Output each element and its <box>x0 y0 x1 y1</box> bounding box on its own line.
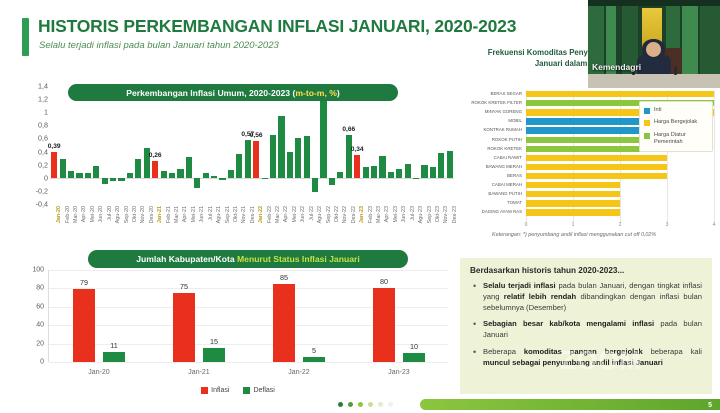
freq-bar-rect <box>526 164 667 170</box>
group-label: Jan-20 <box>88 369 109 376</box>
bar-rect <box>278 116 284 178</box>
freq-bar-label: KONTRAK RUMAH <box>456 126 522 134</box>
freq-chart-footnote: Keterangan: *) penyumbang andil inflasi … <box>492 232 707 240</box>
x-tick-label: Jan-23 <box>359 206 365 223</box>
x-tick-label: Jun-21 <box>199 206 205 222</box>
bar-rect: 75 <box>173 293 195 362</box>
x-tick-label: Mei-23 <box>393 206 399 222</box>
legend-swatch <box>201 387 208 394</box>
bar-rect <box>413 178 419 179</box>
microphone2-icon <box>674 66 677 75</box>
bar <box>371 86 377 204</box>
bottom-title-highlight: Menurut Status Inflasi Januari <box>237 254 360 264</box>
bar: 0,57 <box>245 86 251 204</box>
x-tick-label: Mei-21 <box>191 206 197 222</box>
freq-chart-legend: IntiHarga BergejolakHarga Diatur Pemerin… <box>639 101 713 152</box>
bar-rect <box>320 101 326 178</box>
x-tick-label: Jun-20 <box>98 206 104 222</box>
footer-green-band <box>420 399 720 410</box>
bar <box>211 86 217 204</box>
bar <box>161 86 167 204</box>
page-subtitle: Selalu terjadi inflasi pada bulan Januar… <box>39 40 279 51</box>
bar <box>413 86 419 204</box>
legend-swatch <box>644 133 650 139</box>
bar-rect <box>118 178 124 181</box>
bottom-chart-y-axis: 100806040200 <box>22 270 46 362</box>
x-tick-label: 3 <box>666 222 669 228</box>
progress-dot[interactable] <box>388 402 393 407</box>
bar-value-label: 15 <box>210 337 218 346</box>
note-bullet: Selalu terjadi inflasi pada bulan Januar… <box>470 281 702 313</box>
x-tick-label: Apr-22 <box>283 206 289 222</box>
x-tick-label: Jan-20 <box>56 206 62 223</box>
bar-rect: 5 <box>303 357 325 362</box>
bar <box>186 86 192 204</box>
progress-dot[interactable] <box>348 402 353 407</box>
legend-item: Harga Diatur Pemerintah <box>644 132 708 147</box>
bar-value-label: 5 <box>312 346 316 355</box>
x-tick-label: Jul-23 <box>410 206 416 221</box>
legend-swatch <box>644 108 650 114</box>
bar <box>363 86 369 204</box>
y-tick-label: 0,4 <box>22 147 48 156</box>
bar: 0,56 <box>253 86 259 204</box>
bar-rect <box>51 152 57 178</box>
main-chart-x-axis: Jan-20Feb-20Mar-20Apr-20Mei-20Jun-20Jul-… <box>50 206 454 238</box>
bar-value-label: 10 <box>410 342 418 351</box>
freq-bar-rect <box>526 200 620 206</box>
bar-rect <box>245 140 251 177</box>
x-tick-label: Okt-23 <box>435 206 441 222</box>
y-tick-label: 80 <box>36 285 44 292</box>
group-label: Jan-22 <box>288 369 309 376</box>
x-tick-label: Nov-23 <box>443 206 449 223</box>
bar: 0,26 <box>152 86 158 204</box>
x-tick-label: Jul-22 <box>309 206 315 221</box>
bar-rect <box>211 176 217 178</box>
bar: 0,39 <box>51 86 57 204</box>
x-tick-label: Des-20 <box>149 206 155 223</box>
bar <box>110 86 116 204</box>
bar <box>320 86 326 204</box>
y-tick-label: 20 <box>36 340 44 347</box>
freq-bar-row: BAWANG PUTIH <box>456 190 714 198</box>
x-tick-label: Jul-21 <box>208 206 214 221</box>
x-tick-label: Apr-21 <box>182 206 188 222</box>
bar <box>93 86 99 204</box>
freq-bar-label: MINYAK GORENG <box>456 108 522 116</box>
freq-bar-label: ROKOK KRETEK FILTER <box>456 99 522 107</box>
bar: 0,66 <box>346 86 352 204</box>
bar <box>102 86 108 204</box>
legend-label: Deflasi <box>253 387 274 394</box>
x-tick-label: Okt-20 <box>132 206 138 222</box>
bar <box>278 86 284 204</box>
group-label: Jan-21 <box>188 369 209 376</box>
freq-bar-row: CABAI MERAH <box>456 181 714 189</box>
bar-rect <box>388 172 394 178</box>
summary-notes-panel: Berdasarkan historis tahun 2020-2023... … <box>460 258 712 394</box>
bar <box>219 86 225 204</box>
bar <box>262 86 268 204</box>
bar <box>203 86 209 204</box>
notes-bullet-list: Selalu terjadi inflasi pada bulan Januar… <box>470 281 702 368</box>
bar-rect <box>219 178 225 181</box>
x-tick-label: Mar-23 <box>376 206 382 223</box>
legend-item: Harga Bergejolak <box>644 119 708 126</box>
freq-bar-label: BERAS SEGAR <box>456 90 522 98</box>
gridline <box>49 362 448 363</box>
x-tick-label: Jun-23 <box>401 206 407 222</box>
x-tick-label: Apr-20 <box>81 206 87 222</box>
bottom-chart-legend: InflasiDeflasi <box>22 387 454 394</box>
bar <box>118 86 124 204</box>
y-tick-label: 60 <box>36 303 44 310</box>
note-bullet: Beberapa komoditas pangan bergejolak beb… <box>470 347 702 369</box>
bar-rect <box>337 172 343 178</box>
bar-rect: 85 <box>273 284 295 362</box>
x-tick-label: 2 <box>619 222 622 228</box>
bar-group: 7911Jan-20 <box>49 270 149 362</box>
progress-dot[interactable] <box>368 402 373 407</box>
legend-item: Deflasi <box>243 387 274 394</box>
freq-bar-label: BERAS <box>456 172 522 180</box>
bar-rect <box>346 135 352 178</box>
x-tick-label: 4 <box>713 222 716 228</box>
bar-rect <box>186 157 192 178</box>
bar <box>76 86 82 204</box>
bar-rect <box>363 167 369 177</box>
bar-value-label: 75 <box>180 282 188 291</box>
y-tick-label: -0,4 <box>22 200 48 209</box>
bar <box>144 86 150 204</box>
freq-bar-label: CABAI RAWIT <box>456 154 522 162</box>
bar-rect <box>194 178 200 188</box>
bar <box>396 86 402 204</box>
legend-item: Inflasi <box>201 387 229 394</box>
y-tick-label: 40 <box>36 322 44 329</box>
x-tick-label: 1 <box>572 222 575 228</box>
bar-value-label: 79 <box>80 278 88 287</box>
bar <box>127 86 133 204</box>
bar <box>287 86 293 204</box>
main-chart-plot-area: 0,390,260,570,560,660,34 <box>50 86 454 204</box>
slide-footer: 5 <box>0 399 720 413</box>
x-tick-label: Sep-23 <box>427 206 433 223</box>
x-tick-label: Jul-20 <box>107 206 113 221</box>
bar-rect <box>127 173 133 178</box>
bar-rect <box>430 167 436 178</box>
freq-bar-rect <box>526 182 620 188</box>
bar-rect <box>270 135 276 178</box>
slide-header: HISTORIS PERKEMBANGAN INFLASI JANUARI, 2… <box>0 14 520 66</box>
bar-group: 8010Jan-23 <box>349 270 449 362</box>
x-tick-label: Mar-20 <box>73 206 79 223</box>
y-tick-label: 0,2 <box>22 160 48 169</box>
legend-label: Harga Diatur Pemerintah <box>654 132 708 147</box>
freq-bar-rect <box>526 155 667 161</box>
progress-dot[interactable] <box>358 402 363 407</box>
x-tick-label: Agu-20 <box>115 206 121 223</box>
bar-rect <box>60 159 66 177</box>
x-tick-label: Agu-22 <box>317 206 323 223</box>
bar <box>169 86 175 204</box>
bar-rect <box>85 173 91 178</box>
bar-rect <box>152 161 158 178</box>
bar <box>379 86 385 204</box>
bar-group: 7515Jan-21 <box>149 270 249 362</box>
monthly-inflation-chart: 1,41,210,80,60,40,20-0,2-0,4 0,390,260,5… <box>22 86 454 238</box>
x-tick-label: Sep-22 <box>326 206 332 223</box>
y-tick-label: 1 <box>22 108 48 117</box>
freq-bar-row: CABAI RAWIT <box>456 154 714 162</box>
freq-bar-rect <box>526 209 620 215</box>
bar-rect <box>253 141 259 178</box>
bar-rect <box>203 173 209 178</box>
bar <box>421 86 427 204</box>
x-tick-label: Nov-20 <box>140 206 146 223</box>
freq-bar-label: BAWANG PUTIH <box>456 190 522 198</box>
x-tick-label: Nov-22 <box>342 206 348 223</box>
video-participant-overlay[interactable]: Kemendagri <box>588 0 720 88</box>
bar-rect <box>379 156 385 178</box>
x-tick-label: Nov-21 <box>241 206 247 223</box>
bar-rect: 10 <box>403 353 425 362</box>
freq-bar-rect <box>526 173 667 179</box>
y-tick-label: 100 <box>32 267 44 274</box>
y-tick-label: 0 <box>40 359 44 366</box>
bar-rect <box>135 159 141 177</box>
bar <box>329 86 335 204</box>
freq-bar-label: CABAI MERAH <box>456 181 522 189</box>
freq-bar-row: BAWANG MERAH <box>456 163 714 171</box>
bar: 0,34 <box>354 86 360 204</box>
bar-rect <box>110 178 116 181</box>
legend-label: Inti <box>654 107 661 114</box>
bar-rect <box>312 178 318 192</box>
bar <box>405 86 411 204</box>
x-tick-label: Mar-21 <box>174 206 180 223</box>
freq-bar-row: TOMAT <box>456 199 714 207</box>
x-tick-label: Sep-20 <box>124 206 130 223</box>
presentation-slide: HISTORIS PERKEMBANGAN INFLASI JANUARI, 2… <box>0 0 720 413</box>
bar-rect <box>329 178 335 185</box>
bar-rect <box>68 171 74 178</box>
gridline <box>714 90 715 222</box>
freq-bar-row: DAGING AYAM RAS <box>456 208 714 216</box>
x-tick-label: Feb-20 <box>65 206 71 223</box>
freq-bar-row: BERAS SEGAR <box>456 90 714 98</box>
bar-rect <box>76 173 82 178</box>
x-tick-label: Jan-21 <box>157 206 163 223</box>
bar <box>270 86 276 204</box>
freq-bar-rect <box>526 91 714 97</box>
bar-rect: 11 <box>103 352 125 362</box>
bar-rect <box>405 164 411 178</box>
legend-swatch <box>243 387 250 394</box>
y-tick-label: 1,4 <box>22 82 48 91</box>
bar-group: 855Jan-22 <box>249 270 349 362</box>
kabkota-status-chart: 100806040200 7911Jan-207515Jan-21855Jan-… <box>22 270 454 390</box>
bar <box>312 86 318 204</box>
x-tick-label: Sep-21 <box>225 206 231 223</box>
bar-rect <box>354 155 360 177</box>
x-tick-label: Mei-20 <box>90 206 96 222</box>
x-tick-label: Des-21 <box>250 206 256 223</box>
bar <box>388 86 394 204</box>
x-tick-label: Des-22 <box>351 206 357 223</box>
x-tick-label: 0 <box>525 222 528 228</box>
bar-rect <box>295 138 301 178</box>
person-face-icon <box>646 42 661 57</box>
bar-rect <box>102 178 108 185</box>
bar <box>85 86 91 204</box>
bar-rect <box>304 136 310 178</box>
y-tick-label: 0,8 <box>22 121 48 130</box>
legend-swatch <box>644 120 650 126</box>
bar-rect <box>228 170 234 178</box>
legend-item: Inti <box>644 107 708 114</box>
x-tick-label: Agu-21 <box>216 206 222 223</box>
bar <box>430 86 436 204</box>
bar-rect <box>287 152 293 178</box>
bar-value-label: 11 <box>110 341 117 350</box>
freq-bar-rect <box>526 191 620 197</box>
freq-chart-x-axis: 01234 <box>526 222 714 232</box>
progress-dot[interactable] <box>338 402 343 407</box>
group-label: Jan-23 <box>388 369 409 376</box>
x-tick-label: Agu-23 <box>418 206 424 223</box>
bottom-title-part1: Jumlah Kabupaten/Kota <box>136 254 237 264</box>
bottom-chart-title: Jumlah Kabupaten/Kota Menurut Status Inf… <box>88 250 408 268</box>
bar-value-label: 80 <box>380 277 388 286</box>
x-tick-label: Feb-21 <box>166 206 172 223</box>
bar-rect: 15 <box>203 348 225 362</box>
freq-bar-label: TOMAT <box>456 199 522 207</box>
freq-bar-label: ROKOK KRETEK <box>456 145 522 153</box>
bar <box>337 86 343 204</box>
y-tick-label: 1,2 <box>22 95 48 104</box>
desk-icon <box>588 74 720 88</box>
freq-bar-row: BERAS <box>456 172 714 180</box>
x-tick-label: Mar-22 <box>275 206 281 223</box>
bar-rect: 79 <box>73 289 95 362</box>
bar <box>447 86 453 204</box>
title-accent-bar <box>22 18 29 56</box>
legend-label: Inflasi <box>211 387 229 394</box>
freq-bar-label: ROKOK PUTIH <box>456 136 522 144</box>
progress-dot[interactable] <box>378 402 383 407</box>
bar-rect <box>447 151 453 178</box>
bar-rect <box>396 169 402 178</box>
x-tick-label: Mei-22 <box>292 206 298 222</box>
bar <box>135 86 141 204</box>
freq-bar-label: DAGING AYAM RAS <box>456 208 522 216</box>
x-tick-label: Okt-21 <box>233 206 239 222</box>
bar <box>438 86 444 204</box>
bar <box>177 86 183 204</box>
slide-progress-dots[interactable] <box>338 402 393 407</box>
freq-bar-label: BAWANG MERAH <box>456 163 522 171</box>
bar <box>228 86 234 204</box>
bar <box>60 86 66 204</box>
page-title: HISTORIS PERKEMBANGAN INFLASI JANUARI, 2… <box>38 16 516 37</box>
page-number: 5 <box>708 402 712 409</box>
bar <box>236 86 242 204</box>
bar-rect <box>161 171 167 178</box>
bar-rect <box>93 166 99 178</box>
video-participant-name: Kemendagri <box>592 62 641 72</box>
bar-rect <box>236 154 242 178</box>
x-tick-label: Feb-22 <box>267 206 273 223</box>
legend-label: Harga Bergejolak <box>654 119 697 126</box>
bar-rect <box>169 173 175 178</box>
bottom-chart-plot-area: 7911Jan-207515Jan-21855Jan-228010Jan-23 <box>48 270 448 362</box>
x-tick-label: Okt-22 <box>334 206 340 222</box>
bar-rect <box>438 153 444 178</box>
bar <box>295 86 301 204</box>
bar <box>304 86 310 204</box>
main-chart-y-axis: 1,41,210,80,60,40,20-0,2-0,4 <box>22 86 48 204</box>
bar-rect <box>421 165 427 177</box>
bar-rect <box>371 166 377 178</box>
y-tick-label: 0,6 <box>22 134 48 143</box>
freq-bar-label: MOBIL <box>456 117 522 125</box>
x-tick-label: Feb-23 <box>368 206 374 223</box>
bar-value-label: 85 <box>280 273 288 282</box>
note-bullet: Sebagian besar kab/kota mengalami inflas… <box>470 319 702 341</box>
x-tick-label: Jun-22 <box>300 206 306 222</box>
x-tick-label: Jan-22 <box>258 206 264 223</box>
x-tick-label: Apr-23 <box>384 206 390 222</box>
bar-rect <box>177 169 183 178</box>
bar <box>194 86 200 204</box>
bar-rect: 80 <box>373 288 395 362</box>
notes-heading: Berdasarkan historis tahun 2020-2023... <box>470 266 702 275</box>
bar-rect <box>262 178 268 179</box>
y-tick-label: 0 <box>22 173 48 182</box>
bar <box>68 86 74 204</box>
y-tick-label: -0,2 <box>22 186 48 195</box>
